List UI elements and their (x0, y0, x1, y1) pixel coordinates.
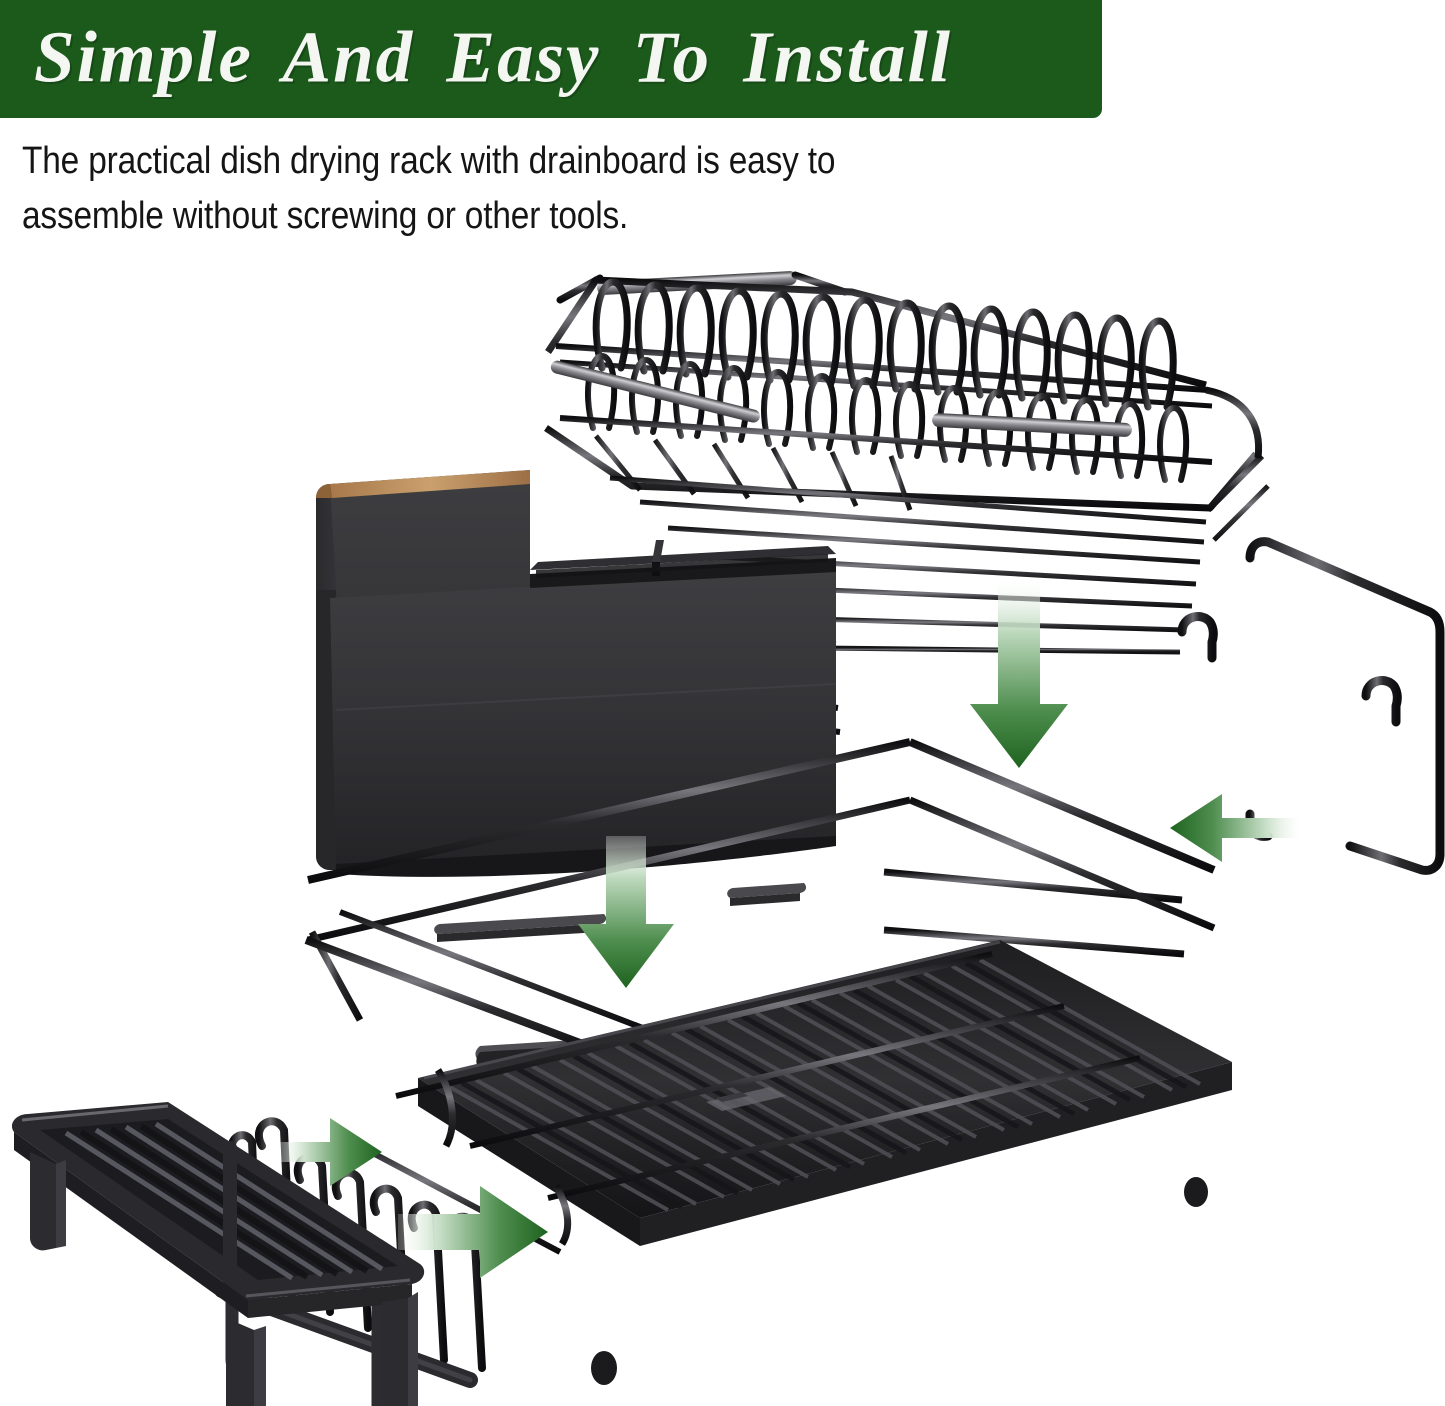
page-title: Simple And Easy To Install (34, 15, 952, 99)
subtitle-text: The practical dish drying rack with drai… (22, 134, 902, 243)
arrow-upper-rack-down (970, 580, 1068, 768)
header-banner: Simple And Easy To Install (0, 0, 1102, 118)
upper-rack-plate-slots-front (588, 356, 1186, 480)
utensil-caddy (316, 470, 836, 1072)
arrow-knife-holder-right (278, 1118, 382, 1186)
product-exploded-illustration (0, 240, 1445, 1406)
